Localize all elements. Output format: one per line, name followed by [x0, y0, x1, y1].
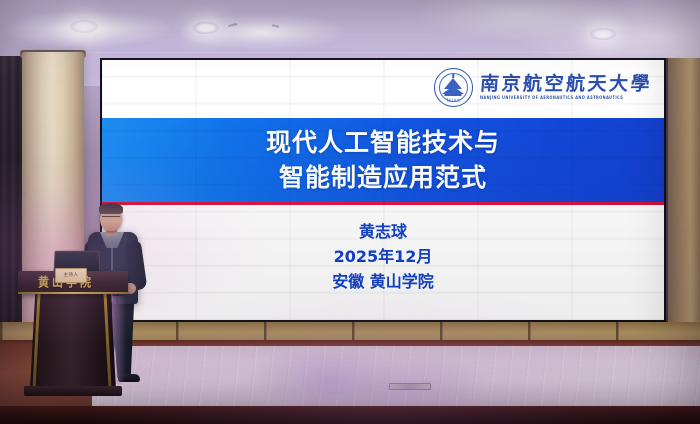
slide-header: NUAA 南京航空航天大學 NANJING UNIVERSITY OF AERO…	[102, 60, 664, 118]
logo-english-name: NANJING UNIVERSITY OF AERONAUTICS AND AS…	[480, 96, 623, 101]
slide-surface: NUAA 南京航空航天大學 NANJING UNIVERSITY OF AERO…	[102, 60, 664, 320]
slide-title-line-2: 智能制造应用范式	[279, 160, 487, 196]
lecture-hall-photo: NUAA 南京航空航天大學 NANJING UNIVERSITY OF AERO…	[0, 0, 700, 424]
logo-chinese-name: 南京航空航天大學	[479, 75, 652, 95]
slide-title-band: 现代人工智能技术与 智能制造应用范式	[102, 118, 664, 202]
presentation-date: 2025年12月	[334, 245, 433, 270]
podium-base	[24, 386, 122, 396]
presentation-venue: 安徽 黄山学院	[332, 270, 434, 295]
seal-pagoda-lower	[442, 86, 464, 94]
seal-base-bar	[445, 94, 462, 96]
slide-title-line-1: 现代人工智能技术与	[266, 125, 500, 161]
university-logo: NUAA 南京航空航天大學 NANJING UNIVERSITY OF AERO…	[434, 68, 652, 107]
ceiling-downlight-icon	[590, 28, 616, 40]
podium-gold-edge	[18, 292, 128, 294]
slide-footer: 黄志球 2025年12月 安徽 黄山学院	[102, 205, 664, 320]
floor-vent-icon	[389, 383, 431, 390]
logo-text-group: 南京航空航天大學 NANJING UNIVERSITY OF AERONAUTI…	[480, 75, 652, 101]
speaker-hair	[99, 203, 123, 214]
ceiling-downlight-icon	[193, 22, 219, 34]
speaker-glasses-icon	[102, 216, 120, 222]
led-presentation-screen[interactable]: NUAA 南京航空航天大學 NANJING UNIVERSITY OF AERO…	[100, 58, 666, 322]
university-seal-icon: NUAA	[434, 68, 473, 107]
ceiling-downlight-icon	[70, 20, 98, 33]
stage-front-lip	[0, 406, 700, 424]
seal-label: NUAA	[435, 98, 472, 103]
podium-name-placard: 主持人	[55, 268, 87, 283]
podium-body	[30, 294, 116, 390]
right-wood-wall-panel	[668, 58, 700, 358]
presenter-name: 黄志球	[359, 220, 407, 245]
ceiling-seam	[0, 52, 700, 53]
